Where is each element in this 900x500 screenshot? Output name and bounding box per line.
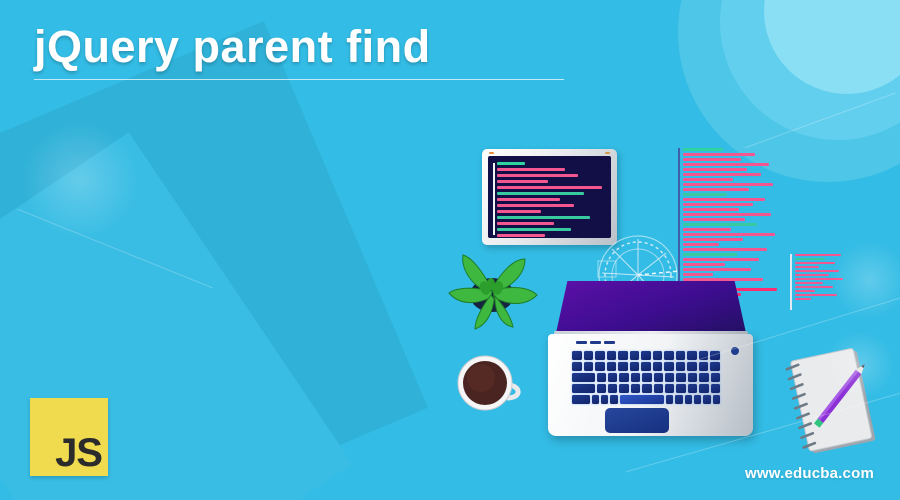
potted-plant (441, 243, 543, 333)
keyboard-key (694, 395, 701, 404)
laptop-keyboard (572, 351, 720, 404)
keyboard-key (713, 395, 720, 404)
function-key (590, 341, 601, 344)
keyboard-key (592, 395, 599, 404)
code-line (497, 168, 565, 171)
text-caret-icon (493, 163, 495, 235)
keyboard-key (676, 351, 686, 360)
code-line (795, 262, 835, 264)
code-line (683, 273, 713, 276)
keyboard-key (685, 395, 692, 404)
code-line (683, 233, 775, 236)
code-line (683, 258, 759, 261)
side-code-lines (795, 254, 847, 300)
keyboard-key (572, 373, 595, 382)
keyboard-key (630, 351, 640, 360)
code-line (795, 274, 829, 276)
keyboard-key (572, 384, 595, 393)
function-key (576, 341, 587, 344)
keyboard-key (676, 373, 685, 382)
keyboard-key (641, 362, 651, 371)
code-line (497, 198, 560, 201)
keyboard-key (631, 373, 640, 382)
keyboard-key (607, 362, 617, 371)
coffee-cup (455, 352, 527, 414)
code-lines (683, 148, 755, 301)
code-line (683, 208, 739, 211)
keyboard-key (699, 351, 709, 360)
code-line (683, 163, 769, 166)
javascript-logo-label: JS (55, 435, 108, 476)
side-code-rule-line (790, 254, 792, 310)
keyboard-key (653, 351, 663, 360)
keyboard-key (653, 362, 663, 371)
keyboard-key (618, 351, 628, 360)
keyboard-key (607, 351, 617, 360)
code-line (497, 180, 548, 183)
keyboard-key (675, 395, 682, 404)
code-line (497, 162, 525, 165)
code-line (795, 270, 839, 272)
keyboard-key (608, 373, 617, 382)
code-line (683, 223, 757, 226)
keyboard-row (572, 395, 720, 404)
code-line (683, 183, 773, 186)
monitor-indicator-right-icon (605, 152, 610, 154)
function-key (604, 341, 615, 344)
code-line (497, 186, 602, 189)
code-line (497, 174, 578, 177)
laptop (548, 281, 753, 436)
code-line (497, 228, 571, 231)
code-line (795, 254, 841, 256)
keyboard-key (630, 362, 640, 371)
keyboard-key (584, 362, 594, 371)
code-line (683, 198, 765, 201)
code-line (683, 158, 741, 161)
code-line (683, 173, 761, 176)
keyboard-key (595, 351, 605, 360)
code-line (497, 216, 590, 219)
code-line (795, 282, 823, 284)
code-line (795, 258, 825, 260)
keyboard-key (572, 351, 582, 360)
keyboard-key (597, 384, 606, 393)
keyboard-key (687, 351, 697, 360)
code-line (497, 234, 545, 237)
keyboard-key (654, 384, 663, 393)
code-line (683, 168, 747, 171)
keyboard-key (688, 373, 697, 382)
keyboard-row (572, 362, 720, 371)
keyboard-key (665, 384, 674, 393)
keyboard-key (608, 384, 617, 393)
laptop-function-keys (576, 341, 615, 344)
keyboard-key (699, 373, 708, 382)
keyboard-key (610, 395, 617, 404)
keyboard-key (676, 384, 685, 393)
keyboard-key (584, 351, 594, 360)
keyboard-key (601, 395, 608, 404)
keyboard-key (664, 351, 674, 360)
code-line (683, 228, 731, 231)
keyboard-row (572, 384, 720, 393)
code-line (683, 238, 743, 241)
keyboard-key (710, 362, 720, 371)
laptop-power-button-icon (731, 347, 739, 355)
code-line (683, 243, 719, 246)
keyboard-key (664, 362, 674, 371)
keyboard-key (619, 384, 628, 393)
keyboard-key (642, 373, 651, 382)
spiral-notebook (785, 348, 885, 458)
keyboard-key (665, 373, 674, 382)
code-line (497, 204, 574, 207)
javascript-logo: JS (30, 398, 108, 476)
keyboard-key (699, 384, 708, 393)
monitor-code-lines (497, 162, 606, 238)
code-line (795, 298, 811, 300)
keyboard-key (641, 351, 651, 360)
code-line (683, 248, 767, 251)
keyboard-row (572, 373, 720, 382)
keyboard-key (620, 395, 664, 404)
site-url: www.educba.com (745, 465, 874, 482)
keyboard-key (597, 373, 606, 382)
code-line (683, 253, 737, 256)
keyboard-key (666, 395, 673, 404)
keyboard-key (572, 362, 582, 371)
code-line (683, 178, 733, 181)
code-line (683, 148, 723, 151)
code-line (683, 193, 727, 196)
plant-icon (441, 243, 543, 333)
code-line (683, 263, 725, 266)
floating-code-block (683, 148, 755, 303)
keyboard-key (631, 384, 640, 393)
keyboard-key (699, 362, 709, 371)
keyboard-key (618, 362, 628, 371)
keyboard-key (687, 362, 697, 371)
laptop-screen (556, 281, 746, 333)
code-line (683, 218, 745, 221)
code-line (497, 210, 541, 213)
developer-desk-illustration (0, 0, 900, 500)
notebook-icon (785, 348, 885, 458)
laptop-trackpad (605, 408, 669, 433)
keyboard-row (572, 351, 720, 360)
keyboard-key (711, 373, 720, 382)
monitor-screen (488, 156, 611, 238)
keyboard-key (654, 373, 663, 382)
code-line (683, 153, 755, 156)
keyboard-key (710, 351, 720, 360)
code-line (795, 278, 843, 280)
keyboard-key (572, 395, 590, 404)
keyboard-key (595, 362, 605, 371)
coffee-cup-icon (455, 352, 527, 414)
monitor-indicator-left-icon (489, 152, 494, 154)
code-line (795, 286, 833, 288)
keyboard-key (688, 384, 697, 393)
code-line (683, 188, 749, 191)
code-line (683, 203, 753, 206)
code-line (683, 213, 771, 216)
keyboard-key (619, 373, 628, 382)
code-line (497, 192, 584, 195)
keyboard-key (703, 395, 710, 404)
code-line (683, 268, 751, 271)
side-code-block (795, 254, 847, 302)
keyboard-key (711, 384, 720, 393)
code-line (795, 294, 837, 296)
code-line (795, 290, 815, 292)
code-line (795, 266, 819, 268)
code-line (497, 222, 554, 225)
banner-card: jQuery parent find (0, 0, 900, 500)
keyboard-key (642, 384, 651, 393)
keyboard-key (676, 362, 686, 371)
